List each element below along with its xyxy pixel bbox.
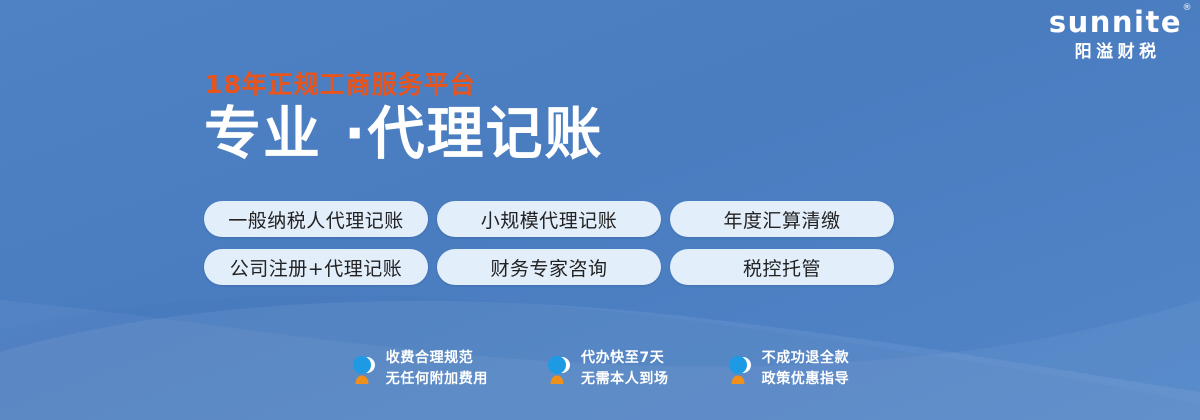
feature-line-1: 收费合理规范 [386, 350, 488, 368]
person-badge-icon [351, 354, 377, 384]
service-pill-company-registration-bookkeeping[interactable]: 公司注册+代理记账 [204, 249, 428, 285]
feature-line-2: 无任何附加费用 [386, 371, 488, 389]
brand-logo[interactable]: sunnite® 阳溢财税 [1049, 8, 1182, 61]
feature-line-1: 代办快至7天 [581, 350, 669, 368]
feature-line-2: 无需本人到场 [581, 371, 669, 389]
person-badge-icon [727, 354, 753, 384]
service-pill-small-scale-bookkeeping[interactable]: 小规模代理记账 [437, 201, 661, 237]
service-pill-general-taxpayer-bookkeeping[interactable]: 一般纳税人代理记账 [204, 201, 428, 237]
feature-item-guarantee: 不成功退全款 政策优惠指导 [727, 350, 850, 388]
feature-highlight-strip: 收费合理规范 无任何附加费用 代办快至7天 无需本人到场 不成功退全款 [0, 350, 1200, 388]
feature-text-guarantee: 不成功退全款 政策优惠指导 [762, 350, 850, 388]
page-title: 专业 ·代理记账 [204, 105, 604, 165]
logo-chinese-name: 阳溢财税 [1049, 44, 1182, 61]
logo-wordmark: sunnite® [1049, 8, 1182, 37]
feature-text-speed: 代办快至7天 无需本人到场 [581, 350, 669, 388]
hero-eyebrow: 18年正规工商服务平台 [205, 72, 604, 97]
service-pill-annual-tax-settlement[interactable]: 年度汇算清缴 [670, 201, 894, 237]
promo-banner: sunnite® 阳溢财税 18年正规工商服务平台 专业 ·代理记账 一般纳税人… [0, 0, 1200, 420]
hero-headline-block: 18年正规工商服务平台 专业 ·代理记账 [204, 72, 604, 165]
feature-item-speed: 代办快至7天 无需本人到场 [546, 350, 669, 388]
logo-wordmark-text: sunnite [1049, 5, 1182, 39]
service-pill-grid: 一般纳税人代理记账 小规模代理记账 年度汇算清缴 公司注册+代理记账 财务专家咨… [204, 201, 894, 285]
feature-item-pricing: 收费合理规范 无任何附加费用 [351, 350, 488, 388]
feature-line-2: 政策优惠指导 [762, 371, 850, 389]
person-badge-icon [546, 354, 572, 384]
service-pill-tax-control-custody[interactable]: 税控托管 [670, 249, 894, 285]
registered-trademark-icon: ® [1183, 4, 1194, 13]
service-pill-finance-expert-consulting[interactable]: 财务专家咨询 [437, 249, 661, 285]
feature-text-pricing: 收费合理规范 无任何附加费用 [386, 350, 488, 388]
feature-line-1: 不成功退全款 [762, 350, 850, 368]
